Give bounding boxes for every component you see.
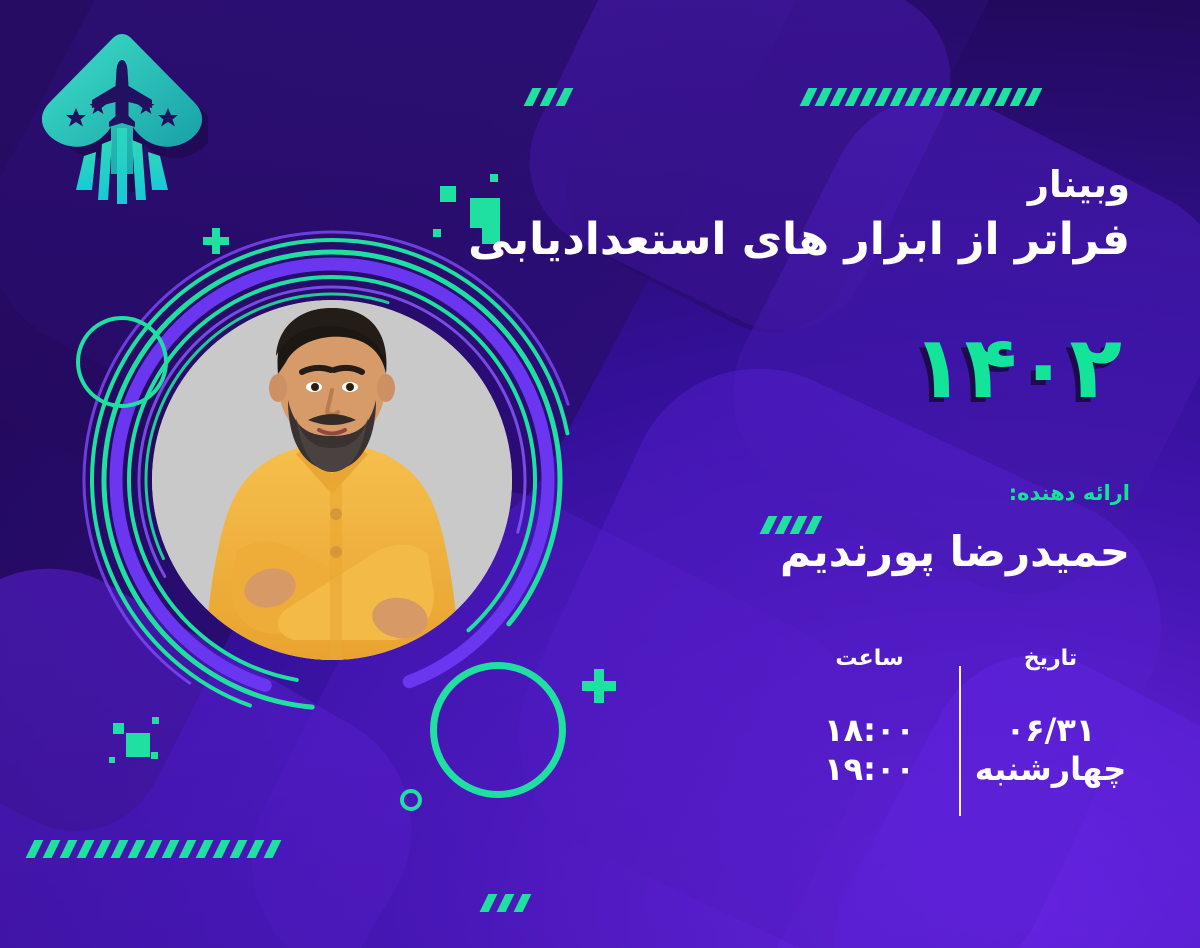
dash-mark bbox=[111, 840, 129, 858]
time-start: ۱۸:۰۰ bbox=[780, 711, 959, 750]
pixel-square bbox=[109, 757, 115, 763]
year-badge: ۱۴۰۲ bbox=[912, 318, 1122, 418]
pixel-square bbox=[113, 723, 124, 734]
poster-canvas: وبینار فراتر از ابزار های استعدادیابی ۱۴… bbox=[0, 0, 1200, 948]
meta-divider bbox=[959, 666, 961, 816]
date-title: تاریخ bbox=[961, 646, 1140, 671]
pixel-square bbox=[440, 186, 456, 202]
dash-mark bbox=[77, 840, 95, 858]
presenter-label: ارائه دهنده: bbox=[1009, 481, 1130, 505]
dash-mark bbox=[162, 840, 180, 858]
dash-mark bbox=[145, 840, 163, 858]
date-value: ۰۶/۳۱ bbox=[961, 711, 1140, 750]
outline-circle-small bbox=[400, 789, 422, 811]
dash-mark bbox=[497, 894, 515, 912]
dash-mark bbox=[247, 840, 265, 858]
dash-row-bottom-center bbox=[484, 894, 527, 912]
dash-mark bbox=[94, 840, 112, 858]
dash-mark bbox=[179, 840, 197, 858]
date-column: تاریخ ۰۶/۳۱ چهارشنبه bbox=[961, 646, 1140, 836]
date-weekday: چهارشنبه bbox=[961, 750, 1140, 789]
dash-row-bottom-left bbox=[30, 840, 277, 858]
pixel-square bbox=[126, 733, 150, 757]
pixel-square bbox=[151, 752, 158, 759]
dash-mark bbox=[230, 840, 248, 858]
poster-copy: وبینار فراتر از ابزار های استعدادیابی ۱۴… bbox=[540, 0, 1160, 948]
pixel-square bbox=[152, 717, 159, 724]
dash-mark bbox=[213, 840, 231, 858]
time-column: ساعت ۱۸:۰۰ ۱۹:۰۰ bbox=[780, 646, 959, 836]
time-end: ۱۹:۰۰ bbox=[780, 750, 959, 789]
airplane-spade-logo-icon bbox=[36, 24, 208, 210]
kicker-webinar: وبینار bbox=[1028, 163, 1130, 206]
pixel-square bbox=[433, 229, 441, 237]
dash-mark bbox=[196, 840, 214, 858]
event-meta: تاریخ ۰۶/۳۱ چهارشنبه ساعت ۱۸:۰۰ ۱۹:۰۰ bbox=[780, 646, 1140, 836]
presenter-photo bbox=[152, 300, 512, 664]
page-title: فراتر از ابزار های استعدادیابی bbox=[468, 214, 1130, 265]
dash-mark bbox=[60, 840, 78, 858]
time-title: ساعت bbox=[780, 646, 959, 671]
presenter-name: حمیدرضا پورندیم bbox=[780, 527, 1130, 576]
dash-mark bbox=[128, 840, 146, 858]
dash-mark bbox=[43, 840, 61, 858]
pixel-square bbox=[490, 174, 498, 182]
plus-mark-top-left-icon bbox=[203, 228, 229, 254]
